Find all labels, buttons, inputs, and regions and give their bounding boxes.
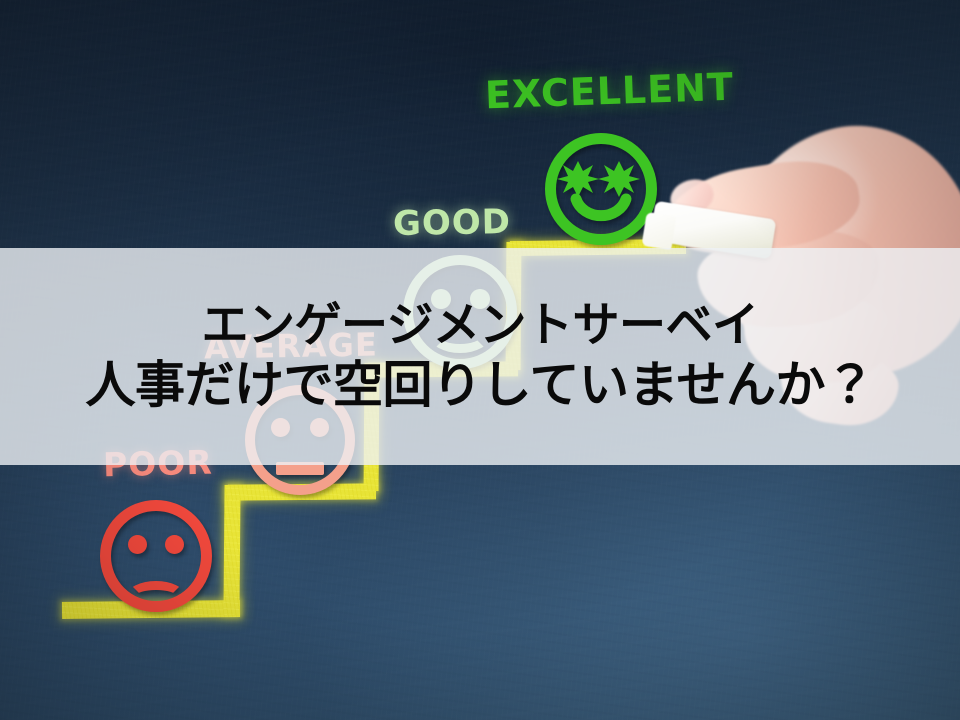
caption-line-2: 人事だけで空回りしていませんか？	[86, 357, 875, 413]
caption-line-1: エンゲージメントサーベイ	[201, 300, 758, 353]
poster-canvas: POOR AVERAGE GOOD EXCELLENT	[0, 0, 960, 720]
caption-band: エンゲージメントサーベイ 人事だけで空回りしていませんか？	[0, 248, 960, 465]
